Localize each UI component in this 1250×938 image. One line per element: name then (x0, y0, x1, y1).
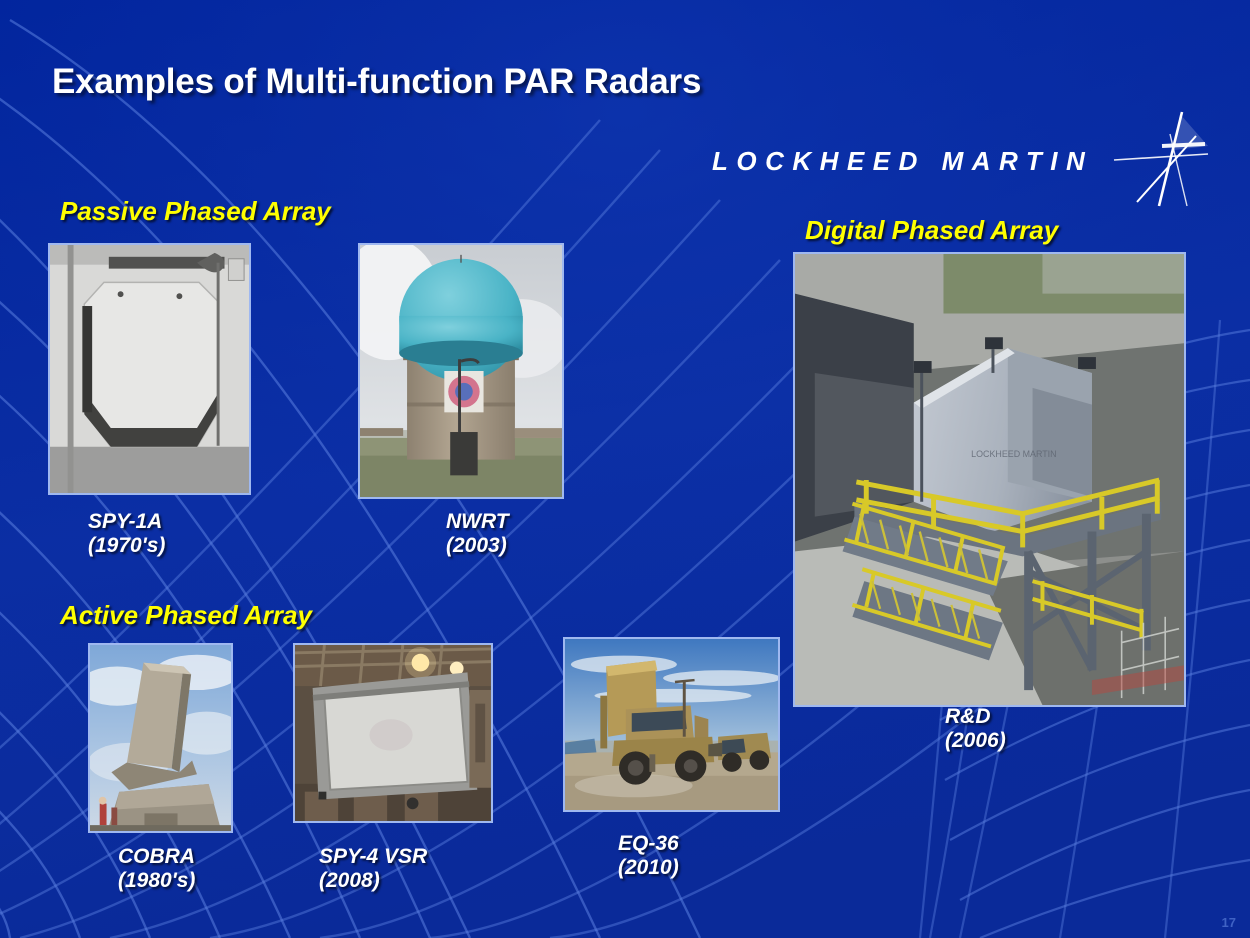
page-number: 17 (1222, 915, 1236, 930)
section-heading-passive: Passive Phased Array (60, 196, 331, 227)
photo-spy-4-vsr (293, 643, 493, 823)
caption-spy-4-vsr: SPY-4 VSR (2008) (319, 845, 427, 892)
caption-year: (1970's) (88, 534, 165, 558)
caption-rnd: R&D (2006) (945, 705, 1006, 752)
lockheed-star-icon (1104, 110, 1214, 210)
lockheed-martin-wordmark: LOCKHEED MARTIN (712, 146, 1093, 177)
caption-name: EQ-36 (618, 832, 679, 856)
section-heading-digital: Digital Phased Array (805, 215, 1058, 246)
photo-cobra (88, 643, 233, 833)
caption-year: (2006) (945, 729, 1006, 753)
caption-name: SPY-1A (88, 510, 165, 534)
caption-year: (2010) (618, 856, 679, 880)
slide-title: Examples of Multi-function PAR Radars (52, 62, 701, 102)
svg-text:LOCKHEED MARTIN: LOCKHEED MARTIN (971, 449, 1056, 459)
caption-spy-1a: SPY-1A (1970's) (88, 510, 165, 557)
photo-eq-36 (563, 637, 780, 812)
caption-eq-36: EQ-36 (2010) (618, 832, 679, 879)
caption-year: (1980's) (118, 869, 195, 893)
caption-nwrt: NWRT (2003) (446, 510, 509, 557)
caption-cobra: COBRA (1980's) (118, 845, 195, 892)
caption-name: NWRT (446, 510, 509, 534)
caption-name: COBRA (118, 845, 195, 869)
caption-year: (2003) (446, 534, 509, 558)
lockheed-martin-logo: LOCKHEED MARTIN (712, 136, 1212, 206)
section-heading-active: Active Phased Array (60, 600, 312, 631)
slide-canvas: Examples of Multi-function PAR Radars LO… (0, 0, 1250, 938)
photo-nwrt (358, 243, 564, 499)
photo-spy-1a (48, 243, 251, 495)
photo-rnd-digital-array: LOCKHEED MARTIN (793, 252, 1186, 707)
caption-year: (2008) (319, 869, 427, 893)
caption-name: SPY-4 VSR (319, 845, 427, 869)
caption-name: R&D (945, 705, 1006, 729)
